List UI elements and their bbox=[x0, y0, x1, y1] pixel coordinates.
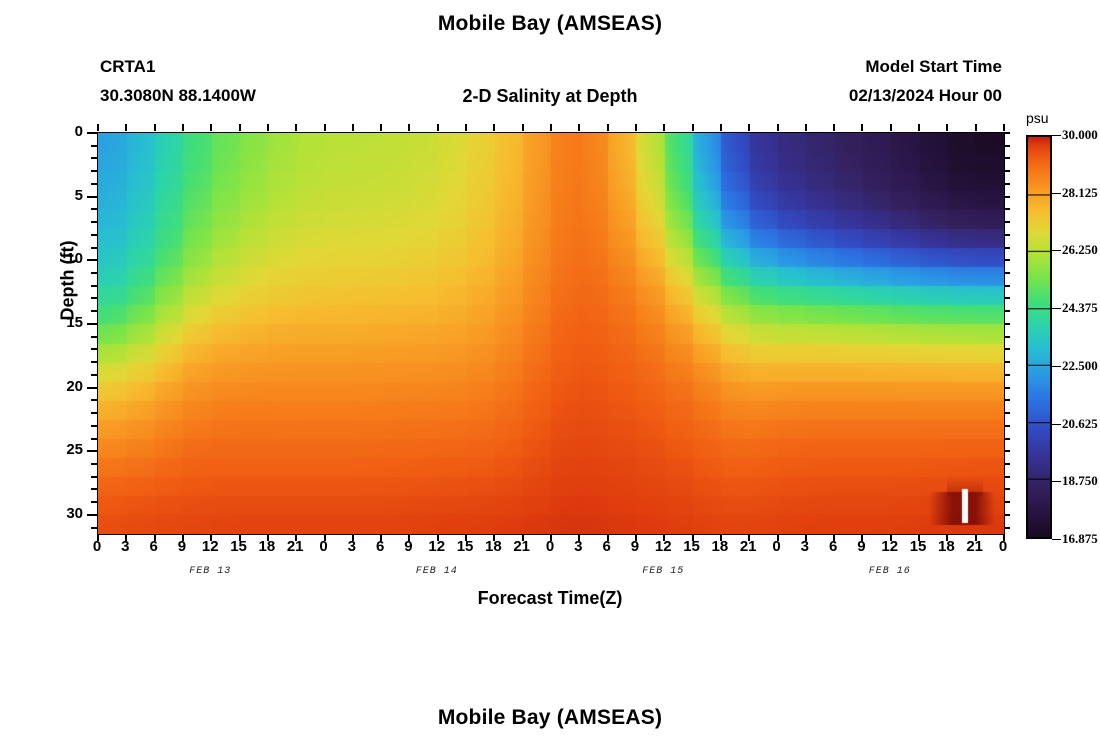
x-axis-tick-label: 12 bbox=[648, 538, 678, 555]
x-axis-tick-label: 3 bbox=[337, 538, 367, 555]
y-axis-minor-tick-right bbox=[1004, 361, 1010, 363]
y-axis-tick bbox=[87, 259, 97, 261]
x-axis-tick-label: 21 bbox=[507, 538, 537, 555]
heatmap-plot-area bbox=[97, 132, 1005, 535]
x-axis-tick-label: 3 bbox=[563, 538, 593, 555]
y-axis-minor-tick-right bbox=[1004, 170, 1010, 172]
x-axis-tick-label: 3 bbox=[110, 538, 140, 555]
y-axis-minor-tick-right bbox=[1004, 425, 1010, 427]
y-axis-minor-tick-right bbox=[1004, 297, 1010, 299]
x-axis-tick-label: 6 bbox=[592, 538, 622, 555]
x-axis-tick-top bbox=[182, 124, 184, 131]
x-axis-tick-label: 18 bbox=[705, 538, 735, 555]
y-axis-minor-tick bbox=[91, 208, 97, 210]
x-axis-tick-label: 15 bbox=[677, 538, 707, 555]
x-axis-tick-top bbox=[663, 124, 665, 131]
y-axis-tick-label: 30 bbox=[43, 505, 83, 522]
x-axis-tick-label: 18 bbox=[478, 538, 508, 555]
x-axis-tick-label: 21 bbox=[733, 538, 763, 555]
y-axis-minor-tick bbox=[91, 145, 97, 147]
y-axis-minor-tick bbox=[91, 488, 97, 490]
y-axis-tick-label: 25 bbox=[43, 441, 83, 458]
y-axis-minor-tick bbox=[91, 374, 97, 376]
model-start-time-value: 02/13/2024 Hour 00 bbox=[849, 86, 1002, 106]
y-axis-tick bbox=[87, 387, 97, 389]
x-axis-tick-top bbox=[550, 124, 552, 131]
colorbar-tick bbox=[1052, 193, 1061, 194]
x-axis-tick-top bbox=[522, 124, 524, 131]
x-axis-tick-top bbox=[805, 124, 807, 131]
y-axis-minor-tick-right bbox=[1004, 412, 1010, 414]
x-axis-tick-label: 6 bbox=[365, 538, 395, 555]
y-axis-minor-tick bbox=[91, 348, 97, 350]
y-axis-minor-tick bbox=[91, 425, 97, 427]
y-axis-tick-label: 20 bbox=[43, 378, 83, 395]
x-axis-tick-top bbox=[154, 124, 156, 131]
y-axis-minor-tick bbox=[91, 361, 97, 363]
y-axis-title: Depth (ft) bbox=[58, 201, 79, 361]
x-axis-tick-label: 9 bbox=[393, 538, 423, 555]
y-axis-minor-tick-right bbox=[1004, 399, 1010, 401]
x-axis-tick-top bbox=[97, 124, 99, 131]
y-axis-minor-tick-right bbox=[1004, 387, 1010, 389]
x-axis-tick-top bbox=[890, 124, 892, 131]
y-axis-minor-tick bbox=[91, 285, 97, 287]
y-axis-minor-tick-right bbox=[1004, 514, 1010, 516]
x-axis-tick-top bbox=[380, 124, 382, 131]
y-axis-minor-tick-right bbox=[1004, 145, 1010, 147]
page-title: Mobile Bay (AMSEAS) bbox=[0, 12, 1100, 36]
x-axis-tick-label: 21 bbox=[960, 538, 990, 555]
x-axis-tick-top bbox=[777, 124, 779, 131]
x-axis-tick-top bbox=[975, 124, 977, 131]
y-axis-minor-tick bbox=[91, 527, 97, 529]
colorbar-tick-label: 28.125 bbox=[1062, 185, 1098, 201]
x-axis-tick-label: 0 bbox=[762, 538, 792, 555]
station-id-label: CRTA1 bbox=[100, 57, 155, 77]
x-axis-tick-label: 15 bbox=[450, 538, 480, 555]
y-axis-minor-tick bbox=[91, 221, 97, 223]
colorbar-tick bbox=[1052, 308, 1061, 309]
y-axis-minor-tick-right bbox=[1004, 272, 1010, 274]
y-axis-minor-tick bbox=[91, 463, 97, 465]
x-axis-tick-top bbox=[946, 124, 948, 131]
colorbar-unit-label: psu bbox=[1026, 110, 1049, 126]
x-axis-tick-top bbox=[267, 124, 269, 131]
y-axis-minor-tick-right bbox=[1004, 234, 1010, 236]
x-axis-tick-top bbox=[408, 124, 410, 131]
colorbar-tick bbox=[1052, 424, 1061, 425]
model-start-time-label: Model Start Time bbox=[865, 57, 1002, 77]
y-axis-minor-tick bbox=[91, 234, 97, 236]
x-axis-tick-top bbox=[578, 124, 580, 131]
x-axis-tick-label: 9 bbox=[620, 538, 650, 555]
y-axis-minor-tick-right bbox=[1004, 463, 1010, 465]
x-axis-tick-label: 0 bbox=[82, 538, 112, 555]
y-axis-minor-tick-right bbox=[1004, 132, 1010, 134]
x-axis-tick-top bbox=[1003, 124, 1005, 131]
footer-title: Mobile Bay (AMSEAS) bbox=[0, 706, 1100, 730]
y-axis-tick-label: 0 bbox=[43, 123, 83, 140]
y-axis-minor-tick-right bbox=[1004, 310, 1010, 312]
y-axis-minor-tick bbox=[91, 170, 97, 172]
y-axis-minor-tick-right bbox=[1004, 196, 1010, 198]
y-axis-minor-tick bbox=[91, 399, 97, 401]
x-axis-tick-top bbox=[748, 124, 750, 131]
y-axis-tick bbox=[87, 450, 97, 452]
y-axis-minor-tick-right bbox=[1004, 221, 1010, 223]
x-axis-tick-top bbox=[295, 124, 297, 131]
colorbar-tick bbox=[1052, 481, 1061, 482]
x-axis-title: Forecast Time(Z) bbox=[97, 588, 1003, 609]
x-axis-tick-label: 0 bbox=[535, 538, 565, 555]
x-axis-tick-label: 9 bbox=[846, 538, 876, 555]
colorbar-tick-label: 24.375 bbox=[1062, 300, 1098, 316]
y-axis-minor-tick bbox=[91, 272, 97, 274]
y-axis-minor-tick-right bbox=[1004, 476, 1010, 478]
x-axis-tick-label: 12 bbox=[422, 538, 452, 555]
x-axis-tick-label: 6 bbox=[818, 538, 848, 555]
y-axis-minor-tick-right bbox=[1004, 336, 1010, 338]
y-axis-minor-tick-right bbox=[1004, 208, 1010, 210]
x-axis-tick-label: 12 bbox=[875, 538, 905, 555]
y-axis-minor-tick-right bbox=[1004, 183, 1010, 185]
colorbar-tick-label: 18.750 bbox=[1062, 473, 1098, 489]
colorbar-tick-label: 22.500 bbox=[1062, 358, 1098, 374]
x-axis-tick-top bbox=[125, 124, 127, 131]
x-axis-tick-top bbox=[607, 124, 609, 131]
y-axis-minor-tick-right bbox=[1004, 348, 1010, 350]
x-axis-tick-label: 0 bbox=[988, 538, 1018, 555]
y-axis-minor-tick-right bbox=[1004, 259, 1010, 261]
x-axis-day-label: FEB 13 bbox=[170, 566, 250, 577]
x-axis-tick-top bbox=[861, 124, 863, 131]
x-axis-day-label: FEB 14 bbox=[397, 566, 477, 577]
y-axis-minor-tick-right bbox=[1004, 247, 1010, 249]
x-axis-tick-top bbox=[833, 124, 835, 131]
y-axis-minor-tick-right bbox=[1004, 374, 1010, 376]
x-axis-tick-top bbox=[437, 124, 439, 131]
x-axis-tick-top bbox=[720, 124, 722, 131]
colorbar-tick bbox=[1052, 135, 1061, 136]
y-axis-minor-tick-right bbox=[1004, 438, 1010, 440]
x-axis-tick-top bbox=[493, 124, 495, 131]
y-axis-minor-tick bbox=[91, 336, 97, 338]
y-axis-minor-tick bbox=[91, 412, 97, 414]
y-axis-minor-tick-right bbox=[1004, 450, 1010, 452]
y-axis-minor-tick bbox=[91, 297, 97, 299]
y-axis-minor-tick bbox=[91, 438, 97, 440]
x-axis-day-label: FEB 15 bbox=[623, 566, 703, 577]
colorbar bbox=[1026, 135, 1052, 539]
y-axis-minor-tick-right bbox=[1004, 285, 1010, 287]
x-axis-tick-top bbox=[692, 124, 694, 131]
x-axis-tick-label: 21 bbox=[280, 538, 310, 555]
x-axis-tick-top bbox=[239, 124, 241, 131]
x-axis-tick-top bbox=[635, 124, 637, 131]
y-axis-minor-tick bbox=[91, 310, 97, 312]
colorbar-tick-label: 16.875 bbox=[1062, 531, 1098, 547]
salinity-heatmap bbox=[98, 133, 1004, 534]
y-axis-minor-tick bbox=[91, 157, 97, 159]
y-axis-minor-tick-right bbox=[1004, 501, 1010, 503]
colorbar-gradient bbox=[1026, 135, 1052, 539]
y-axis-minor-tick-right bbox=[1004, 157, 1010, 159]
x-axis-tick-top bbox=[210, 124, 212, 131]
y-axis-minor-tick bbox=[91, 476, 97, 478]
x-axis-tick-top bbox=[918, 124, 920, 131]
x-axis-tick-top bbox=[352, 124, 354, 131]
x-axis-day-label: FEB 16 bbox=[850, 566, 930, 577]
colorbar-tick-label: 26.250 bbox=[1062, 242, 1098, 258]
y-axis-minor-tick-right bbox=[1004, 488, 1010, 490]
y-axis-tick bbox=[87, 196, 97, 198]
y-axis-minor-tick bbox=[91, 183, 97, 185]
colorbar-tick bbox=[1052, 250, 1061, 251]
x-axis-tick-label: 18 bbox=[931, 538, 961, 555]
x-axis-tick-label: 18 bbox=[252, 538, 282, 555]
y-axis-tick bbox=[87, 323, 97, 325]
x-axis-tick-label: 3 bbox=[790, 538, 820, 555]
x-axis-tick-label: 0 bbox=[309, 538, 339, 555]
colorbar-tick bbox=[1052, 539, 1061, 540]
x-axis-tick-label: 6 bbox=[139, 538, 169, 555]
y-axis-minor-tick-right bbox=[1004, 323, 1010, 325]
x-axis-tick-label: 15 bbox=[903, 538, 933, 555]
colorbar-tick bbox=[1052, 366, 1061, 367]
y-axis-minor-tick bbox=[91, 247, 97, 249]
colorbar-tick-label: 20.625 bbox=[1062, 416, 1098, 432]
colorbar-tick-label: 30.000 bbox=[1062, 127, 1098, 143]
y-axis-minor-tick bbox=[91, 501, 97, 503]
x-axis-tick-label: 9 bbox=[167, 538, 197, 555]
x-axis-tick-label: 12 bbox=[195, 538, 225, 555]
x-axis-tick-top bbox=[324, 124, 326, 131]
y-axis-tick bbox=[87, 514, 97, 516]
y-axis-minor-tick-right bbox=[1004, 527, 1010, 529]
y-axis-tick bbox=[87, 132, 97, 134]
x-axis-tick-label: 15 bbox=[224, 538, 254, 555]
x-axis-tick-top bbox=[465, 124, 467, 131]
